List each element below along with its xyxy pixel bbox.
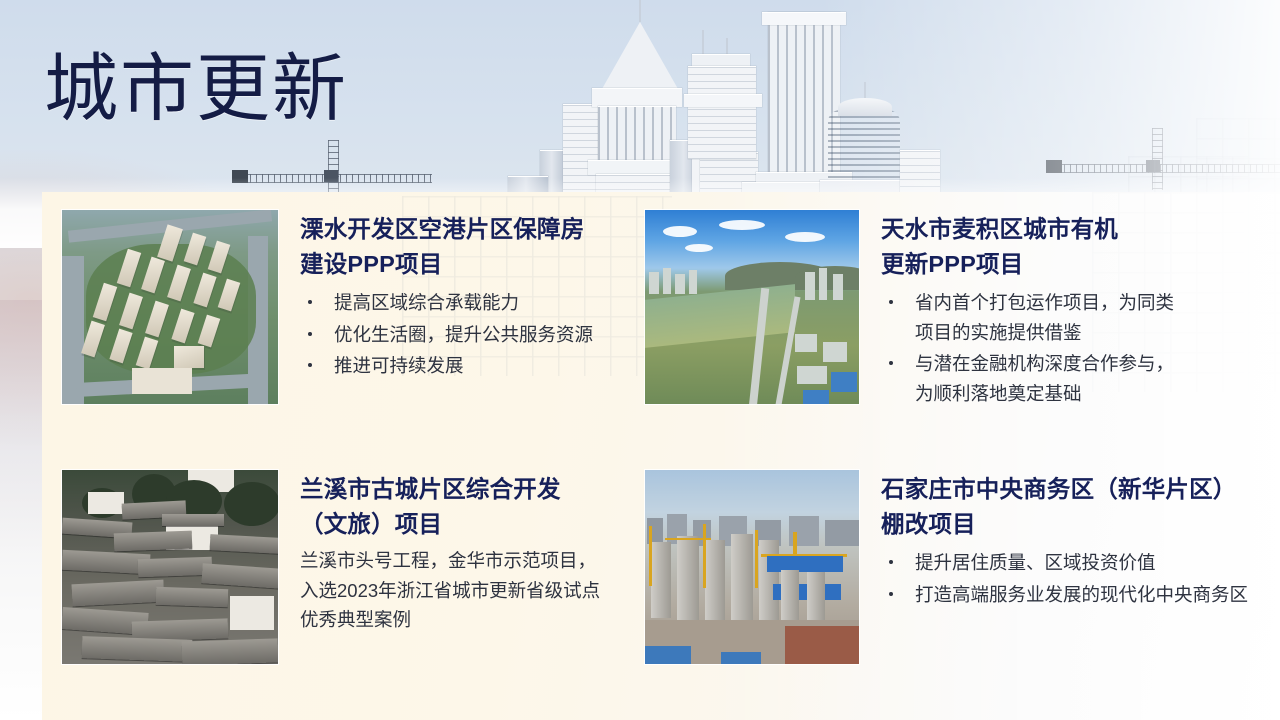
project-card-grid: 溧水开发区空港片区保障房 建设PPP项目 提高区域综合承载能力 优化生活圈，提升… <box>42 192 1280 720</box>
card-title: 天水市麦积区城市有机 更新PPP项目 <box>881 212 1265 282</box>
card-title: 兰溪市古城片区综合开发 （文旅）项目 <box>300 472 642 542</box>
bullet-item: 提高区域综合承载能力 <box>300 288 642 318</box>
card-bullet-list: 省内首个打包运作项目，为同类 项目的实施提供借鉴 与潜在金融机构深度合作参与， … <box>881 288 1265 410</box>
card-bullet-list: 提升居住质量、区域投资价值 打造高端服务业发展的现代化中央商务区 <box>881 548 1265 610</box>
river-valley-city-photo <box>645 210 859 404</box>
bullet-item: 优化生活圈，提升公共服务资源 <box>300 320 642 350</box>
bullet-item: 省内首个打包运作项目，为同类 项目的实施提供借鉴 <box>881 288 1265 348</box>
project-card[interactable]: 天水市麦积区城市有机 更新PPP项目 省内首个打包运作项目，为同类 项目的实施提… <box>645 210 1265 411</box>
ancient-town-rooftops-photo <box>62 470 278 664</box>
bullet-item: 提升居住质量、区域投资价值 <box>881 548 1265 578</box>
page-title: 城市更新 <box>44 52 348 126</box>
card-paragraph: 兰溪市头号工程，金华市示范项目， 入选2023年浙江省城市更新省级试点 优秀典型… <box>300 546 642 636</box>
project-card[interactable]: 溧水开发区空港片区保障房 建设PPP项目 提高区域综合承载能力 优化生活圈，提升… <box>62 210 642 404</box>
bullet-item: 与潜在金融机构深度合作参与， 为顺利落地奠定基础 <box>881 349 1265 409</box>
content-panel: 溧水开发区空港片区保障房 建设PPP项目 提高区域综合承载能力 优化生活圈，提升… <box>42 192 1280 720</box>
project-card[interactable]: 石家庄市中央商务区（新华片区） 棚改项目 提升居住质量、区域投资价值 打造高端服… <box>645 470 1265 664</box>
aerial-residential-compound-photo <box>62 210 278 404</box>
slide-root: 城市更新 <box>0 0 1280 720</box>
card-bullet-list: 提高区域综合承载能力 优化生活圈，提升公共服务资源 推进可持续发展 <box>300 288 642 382</box>
bullet-item: 推进可持续发展 <box>300 351 642 381</box>
project-card[interactable]: 兰溪市古城片区综合开发 （文旅）项目 兰溪市头号工程，金华市示范项目， 入选20… <box>62 470 642 664</box>
card-title: 石家庄市中央商务区（新华片区） 棚改项目 <box>881 472 1265 542</box>
construction-highrise-site-photo <box>645 470 859 664</box>
bullet-item: 打造高端服务业发展的现代化中央商务区 <box>881 580 1265 610</box>
card-title: 溧水开发区空港片区保障房 建设PPP项目 <box>300 212 642 282</box>
